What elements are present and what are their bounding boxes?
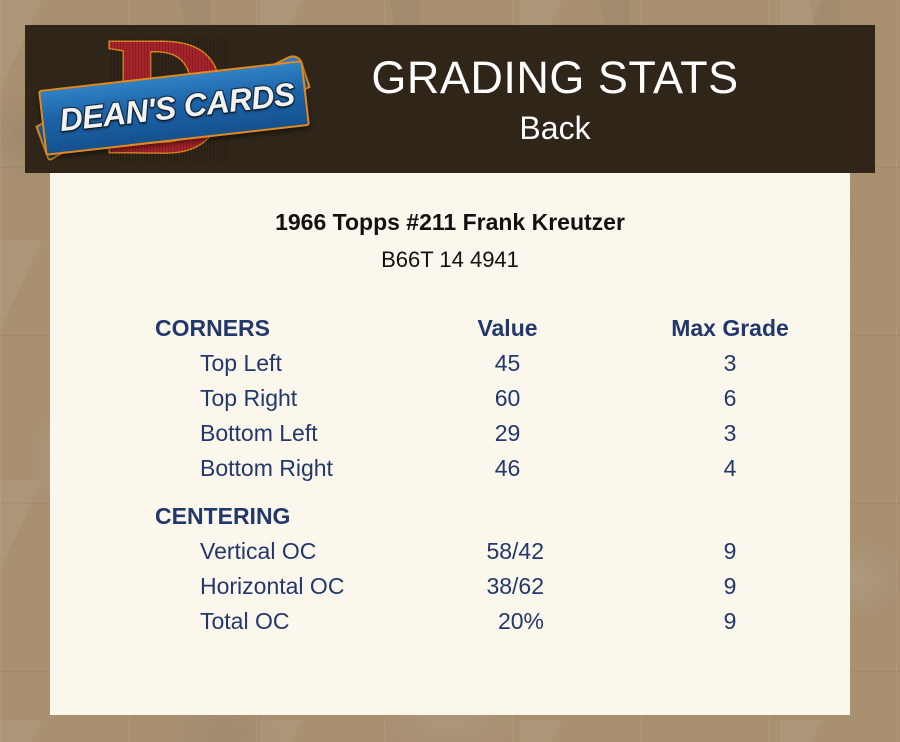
grading-stats-table: CORNERS Value Max Grade Top Left 45 3 To… [50, 315, 850, 643]
card-title: 1966 Topps #211 Frank Kreutzer [50, 209, 850, 236]
row-label: Vertical OC [50, 538, 405, 565]
row-value: 29 [405, 420, 610, 447]
row-value: 46 [405, 455, 610, 482]
header-bar: D DEAN'S CARDS GRADING STATS Back [25, 25, 875, 173]
row-label: Horizontal OC [50, 573, 405, 600]
section-heading-corners: CORNERS [50, 315, 405, 342]
table-row: Bottom Left 29 3 [50, 420, 850, 455]
row-label: Bottom Right [50, 455, 405, 482]
row-label: Top Left [50, 350, 405, 377]
row-value: 20% [405, 608, 610, 635]
row-max-grade: 9 [610, 573, 850, 600]
column-header-value: Value [405, 315, 610, 342]
row-label: Bottom Left [50, 420, 405, 447]
row-value: 45 [405, 350, 610, 377]
table-row: Horizontal OC 38/62 9 [50, 573, 850, 608]
deans-cards-logo[interactable]: D DEAN'S CARDS [25, 25, 295, 173]
table-row: Total OC 20% 9 [50, 608, 850, 643]
row-label: Top Right [50, 385, 405, 412]
row-max-grade: 4 [610, 455, 850, 482]
row-value: 38/62 [405, 573, 610, 600]
card-sku: B66T 14 4941 [50, 247, 850, 273]
logo-artwork: D DEAN'S CARDS [45, 27, 300, 172]
page-title: GRADING STATS [295, 55, 815, 100]
row-max-grade: 9 [610, 608, 850, 635]
table-row: Top Right 60 6 [50, 385, 850, 420]
table-row: Vertical OC 58/42 9 [50, 538, 850, 573]
column-header-max-grade: Max Grade [610, 315, 850, 342]
table-header-row: CORNERS Value Max Grade [50, 315, 850, 350]
table-row: Top Left 45 3 [50, 350, 850, 385]
table-row: Bottom Right 46 4 [50, 455, 850, 490]
row-label: Total OC [50, 608, 405, 635]
row-max-grade: 3 [610, 350, 850, 377]
row-max-grade: 9 [610, 538, 850, 565]
page-subtitle: Back [295, 112, 815, 144]
content-panel: 1966 Topps #211 Frank Kreutzer B66T 14 4… [50, 173, 850, 715]
header-title-group: GRADING STATS Back [295, 55, 875, 144]
row-max-grade: 6 [610, 385, 850, 412]
section-spacer [50, 490, 850, 503]
section-heading-centering: CENTERING [50, 503, 405, 530]
row-value: 58/42 [405, 538, 610, 565]
row-value: 60 [405, 385, 610, 412]
row-max-grade: 3 [610, 420, 850, 447]
section-heading-row: CENTERING [50, 503, 850, 538]
page-root: D DEAN'S CARDS GRADING STATS Back 1966 T… [0, 0, 900, 742]
